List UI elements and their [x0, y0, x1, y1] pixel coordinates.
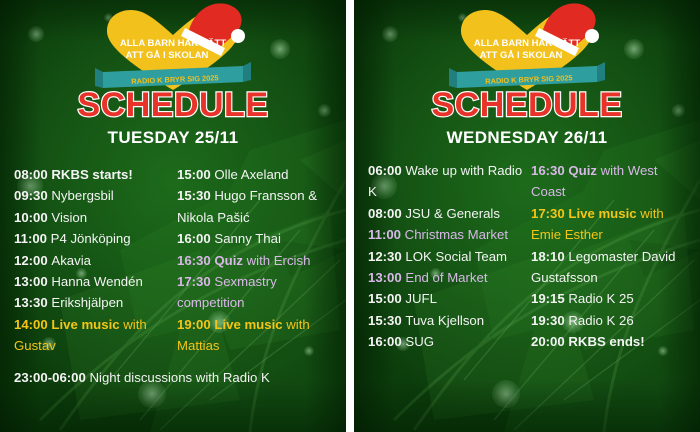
- entry-time: 10:00: [14, 210, 51, 225]
- schedule-entry: 19:15 Radio K 25: [531, 288, 686, 309]
- logo-line1: ALLA BARN HAR RÄTT: [474, 38, 580, 49]
- entry-time: 13:30: [14, 295, 51, 310]
- schedule-entry: 11:00 P4 Jönköping: [14, 228, 173, 249]
- entry-time: 08:00: [14, 167, 51, 182]
- schedule-entry: 08:00 JSU & Generals: [368, 203, 527, 224]
- schedule-column-left: 06:00 Wake up with Radio K08:00 JSU & Ge…: [368, 160, 527, 352]
- schedule-entry: 15:30 Tuva Kjellson: [368, 310, 527, 331]
- schedule-entry: 17:30 Sexmastry competition: [177, 271, 332, 314]
- entry-time: 11:00: [14, 231, 51, 246]
- schedule-columns: 08:00 RKBS starts!09:30 Nybergsbil10:00 …: [14, 164, 332, 356]
- entry-time: 19:30: [531, 313, 568, 328]
- entry-title: Nybergsbil: [51, 188, 113, 203]
- entry-time: 20:00: [531, 334, 568, 349]
- day-subtitle: TUESDAY 25/11: [14, 128, 332, 148]
- entry-time: 15:30: [368, 313, 405, 328]
- rkbs-heart-logo: ALLA BARN HAR RÄTT ATT GÅ I SKOLAN RADIO…: [93, 6, 253, 92]
- schedule-entry: 09:30 Nybergsbil: [14, 185, 173, 206]
- entry-time: 06:00: [368, 163, 405, 178]
- entry-title: Erikshjälpen: [51, 295, 123, 310]
- entry-title: Live music: [51, 317, 119, 332]
- entry-time: 14:00: [14, 317, 51, 332]
- entry-title: RKBS starts!: [51, 167, 132, 182]
- schedule-entry: 11:00 Christmas Market: [368, 224, 527, 245]
- entry-time: 12:30: [368, 249, 405, 264]
- schedule-entry: 10:00 Vision: [14, 207, 173, 228]
- entry-title: SUG: [405, 334, 434, 349]
- schedule-entry: 13:30 Erikshjälpen: [14, 292, 173, 313]
- entry-title: End of Market: [405, 270, 487, 285]
- schedule-entry: 19:30 Radio K 26: [531, 310, 686, 331]
- schedule-column-right: 16:30 Quiz with West Coast17:30 Live mus…: [527, 160, 686, 352]
- entry-time: 16:30: [531, 163, 568, 178]
- schedule-entry: 16:30 Quiz with West Coast: [531, 160, 686, 203]
- logo-line2: ATT GÅ I SKOLAN: [126, 50, 209, 61]
- entry-time: 18:10: [531, 249, 568, 264]
- entry-time: 13:00: [14, 274, 51, 289]
- rkbs-heart-logo: ALLA BARN HAR RÄTT ATT GÅ I SKOLAN RADIO…: [447, 6, 607, 92]
- entry-title: LOK Social Team: [405, 249, 507, 264]
- entry-time: 16:00: [177, 231, 214, 246]
- entry-time: 16:00: [368, 334, 405, 349]
- day-subtitle: WEDNESDAY 26/11: [368, 128, 686, 148]
- entry-time: 15:30: [177, 188, 214, 203]
- schedule-poster-pair: ALLA BARN HAR RÄTT ATT GÅ I SKOLAN RADIO…: [0, 0, 700, 432]
- schedule-entry: 16:30 Quiz with Ercish: [177, 250, 332, 271]
- entry-time: 13:00: [368, 270, 405, 285]
- entry-time: 12:00: [14, 253, 51, 268]
- entry-suffix: with Ercish: [243, 253, 310, 268]
- entry-time: 19:00: [177, 317, 214, 332]
- entry-title: Tuva Kjellson: [405, 313, 484, 328]
- entry-title: Radio K 26: [568, 313, 633, 328]
- logo-area: ALLA BARN HAR RÄTT ATT GÅ I SKOLAN RADIO…: [14, 0, 332, 92]
- entry-title: Radio K 25: [568, 291, 633, 306]
- entry-title: Quiz: [568, 163, 597, 178]
- entry-title: Olle Axeland: [214, 167, 288, 182]
- schedule-entry: 16:00 SUG: [368, 331, 527, 352]
- logo-line1: ALLA BARN HAR RÄTT: [120, 38, 226, 49]
- panel-content: ALLA BARN HAR RÄTT ATT GÅ I SKOLAN RADIO…: [0, 0, 346, 432]
- schedule-entry: 08:00 RKBS starts!: [14, 164, 173, 185]
- schedule-column-right: 15:00 Olle Axeland15:30 Hugo Fransson & …: [173, 164, 332, 356]
- entry-time: 15:00: [368, 291, 405, 306]
- entry-title: JUFL: [405, 291, 437, 306]
- entry-title: RKBS ends!: [568, 334, 644, 349]
- logo-area: ALLA BARN HAR RÄTT ATT GÅ I SKOLAN RADIO…: [368, 0, 686, 92]
- entry-title: Christmas Market: [405, 227, 508, 242]
- entry-time: 11:00: [368, 227, 405, 242]
- schedule-entry: 18:10 Legomaster David Gustafsson: [531, 246, 686, 289]
- entry-time: 09:30: [14, 188, 51, 203]
- schedule-entry: 13:00 Hanna Wendén: [14, 271, 173, 292]
- schedule-entry: 19:00 Live music with Mattias: [177, 314, 332, 357]
- entry-title: Vision: [51, 210, 87, 225]
- schedule-entry: 15:00 Olle Axeland: [177, 164, 332, 185]
- schedule-entry: 06:00 Wake up with Radio K: [368, 160, 527, 203]
- schedule-panel-tuesday: ALLA BARN HAR RÄTT ATT GÅ I SKOLAN RADIO…: [0, 0, 346, 432]
- schedule-entry: 15:30 Hugo Fransson & Nikola Pašić: [177, 185, 332, 228]
- schedule-entry: 14:00 Live music with Gustav: [14, 314, 173, 357]
- entry-title: Hanna Wendén: [51, 274, 142, 289]
- schedule-entry: 16:00 Sanny Thai: [177, 228, 332, 249]
- entry-title: JSU & Generals: [405, 206, 500, 221]
- logo-line2: ATT GÅ I SKOLAN: [480, 50, 563, 61]
- schedule-column-left: 08:00 RKBS starts!09:30 Nybergsbil10:00 …: [14, 164, 173, 356]
- entry-title: Quiz: [214, 253, 243, 268]
- entry-title: Akavia: [51, 253, 91, 268]
- entry-time: 08:00: [368, 206, 405, 221]
- schedule-footer-entry: 23:00-06:00 Night discussions with Radio…: [14, 370, 332, 385]
- schedule-entry: 15:00 JUFL: [368, 288, 527, 309]
- schedule-entry: 13:00 End of Market: [368, 267, 527, 288]
- panel-content: ALLA BARN HAR RÄTT ATT GÅ I SKOLAN RADIO…: [354, 0, 700, 432]
- entry-title: Live music: [214, 317, 282, 332]
- page-title: SCHEDULE: [368, 88, 686, 122]
- entry-title: P4 Jönköping: [51, 231, 131, 246]
- entry-title: Live music: [568, 206, 636, 221]
- footer-time: 23:00-06:00: [14, 370, 90, 385]
- entry-title: Sanny Thai: [214, 231, 280, 246]
- entry-time: 15:00: [177, 167, 214, 182]
- entry-time: 16:30: [177, 253, 214, 268]
- schedule-columns: 06:00 Wake up with Radio K08:00 JSU & Ge…: [368, 160, 686, 352]
- entry-time: 17:30: [177, 274, 214, 289]
- schedule-entry: 12:00 Akavia: [14, 250, 173, 271]
- schedule-panel-wednesday: ALLA BARN HAR RÄTT ATT GÅ I SKOLAN RADIO…: [354, 0, 700, 432]
- schedule-entry: 17:30 Live music with Emie Esther: [531, 203, 686, 246]
- entry-time: 17:30: [531, 206, 568, 221]
- schedule-entry: 12:30 LOK Social Team: [368, 246, 527, 267]
- entry-time: 19:15: [531, 291, 568, 306]
- schedule-entry: 20:00 RKBS ends!: [531, 331, 686, 352]
- page-title: SCHEDULE: [14, 88, 332, 122]
- footer-title: Night discussions with Radio K: [90, 370, 270, 385]
